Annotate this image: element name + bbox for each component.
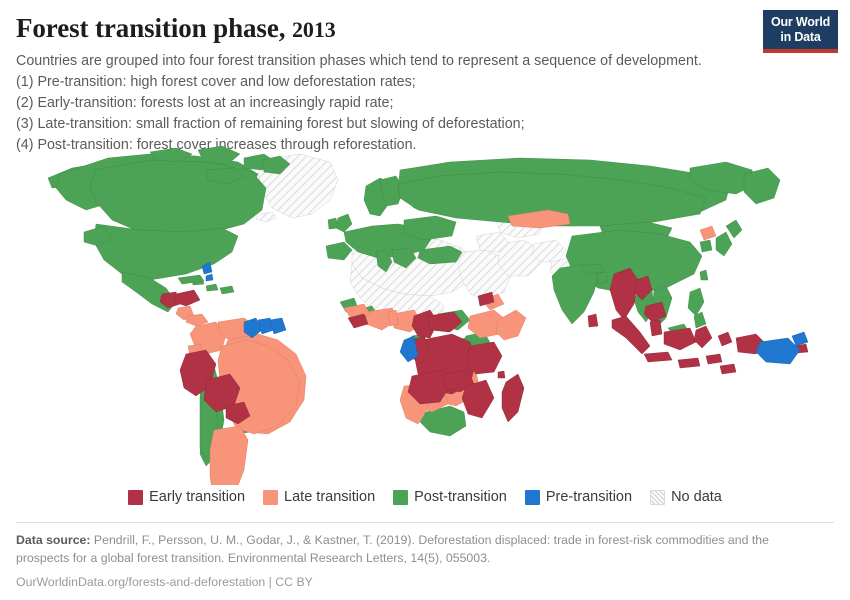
legend-label-no-data: No data <box>671 489 722 505</box>
legend-swatch-late-transition-icon <box>263 490 278 505</box>
owid-map-chart: Forest transition phase, 2013 Countries … <box>0 0 850 600</box>
subtitle-line-2: (2) Early-transition: forests lost at an… <box>16 93 834 114</box>
map-legend: Early transition Late transition Post-tr… <box>0 489 850 505</box>
legend-label-early-transition: Early transition <box>149 489 245 505</box>
owid-logo[interactable]: Our World in Data <box>763 10 838 53</box>
page-title: Forest transition phase, 2013 <box>16 14 834 44</box>
title-year: 2013 <box>292 17 336 42</box>
legend-label-post-transition: Post-transition <box>414 489 507 505</box>
title-text: Forest transition phase, <box>16 13 285 43</box>
legend-label-pre-transition: Pre-transition <box>546 489 632 505</box>
legend-label-late-transition: Late transition <box>284 489 375 505</box>
chart-footer: Data source: Pendrill, F., Persson, U. M… <box>0 522 850 589</box>
legend-item-post-transition[interactable]: Post-transition <box>393 489 507 505</box>
legend-swatch-early-transition-icon <box>128 490 143 505</box>
legend-item-no-data[interactable]: No data <box>650 489 722 505</box>
subtitle-line-0: Countries are grouped into four forest t… <box>16 51 834 72</box>
legend-item-late-transition[interactable]: Late transition <box>263 489 375 505</box>
owid-logo-line1: Our World <box>763 10 838 30</box>
data-source: Data source: Pendrill, F., Persson, U. M… <box>16 532 806 568</box>
data-source-label: Data source: <box>16 533 91 547</box>
permalink[interactable]: OurWorldinData.org/forests-and-deforesta… <box>16 575 834 589</box>
legend-swatch-post-transition-icon <box>393 490 408 505</box>
legend-swatch-pre-transition-icon <box>525 490 540 505</box>
footer-divider <box>16 522 834 523</box>
chart-header: Forest transition phase, 2013 Countries … <box>0 0 850 156</box>
legend-item-early-transition[interactable]: Early transition <box>128 489 245 505</box>
legend-item-pre-transition[interactable]: Pre-transition <box>525 489 632 505</box>
world-map[interactable] <box>0 140 850 485</box>
subtitle-line-1: (1) Pre-transition: high forest cover an… <box>16 72 834 93</box>
legend-swatch-no-data-icon <box>650 490 665 505</box>
data-source-text: Pendrill, F., Persson, U. M., Godar, J.,… <box>16 533 769 565</box>
owid-logo-line2: in Data <box>763 30 838 50</box>
subtitle-line-3: (3) Late-transition: small fraction of r… <box>16 114 834 135</box>
